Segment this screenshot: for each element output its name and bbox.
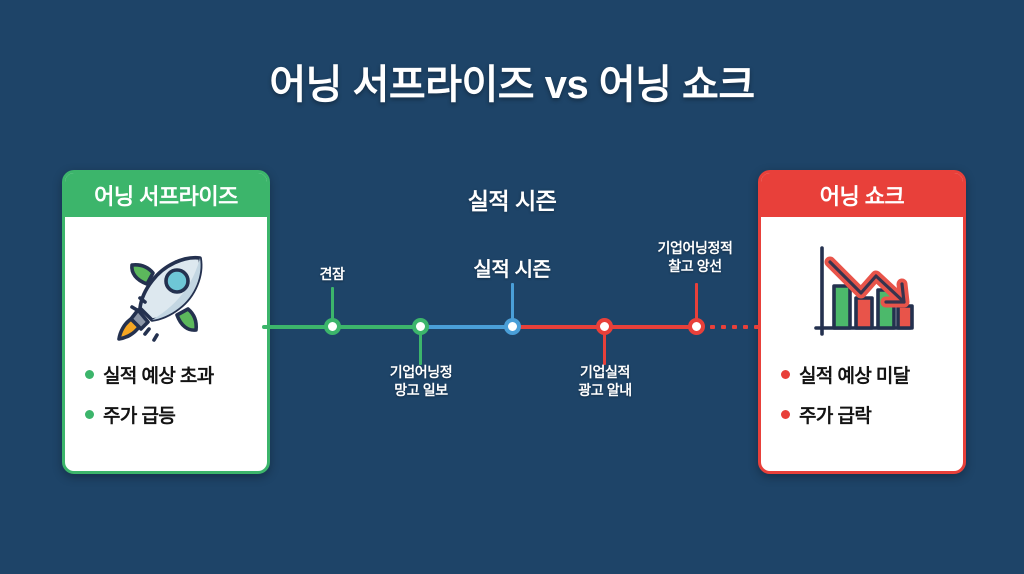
timeline-label-2: 기업어닝정 망고 일보 xyxy=(366,364,476,399)
list-item: 실적 예상 초과 xyxy=(85,361,267,388)
timeline-segment-green-2 xyxy=(332,325,424,329)
timeline-heading: 실적 시즌 xyxy=(262,182,762,216)
timeline-node-3[interactable] xyxy=(504,318,521,335)
timeline-node-1[interactable] xyxy=(324,318,341,335)
card-header-earnings-shock: 어닝 쇼크 xyxy=(761,173,963,217)
card-body-earnings-shock: 실적 예상 미달 주가 급락 xyxy=(761,217,963,471)
card-earnings-shock: 어닝 쇼크 xyxy=(758,170,966,474)
list-item: 실적 예상 미달 xyxy=(781,361,963,388)
card-earnings-surprise: 어닝 서프라이즈 xyxy=(62,170,270,474)
timeline-stem-2 xyxy=(419,333,422,365)
timeline-segment-blue xyxy=(420,325,516,329)
timeline-stem-3 xyxy=(511,283,514,320)
timeline-label-3: 실적 시즌 xyxy=(447,258,577,283)
bullet-dot-icon xyxy=(85,410,94,419)
bullet-dot-icon xyxy=(781,410,790,419)
timeline: 실적 시즌 견잠 기업어닝정 망고 일보 실적 시즌 기업실적 광고 알내 기업… xyxy=(262,170,762,420)
bullet-text: 주가 급등 xyxy=(103,401,175,428)
timeline-node-2[interactable] xyxy=(412,318,429,335)
rocket-icon xyxy=(114,233,218,351)
timeline-node-4[interactable] xyxy=(596,318,613,335)
timeline-stem-4 xyxy=(603,333,606,365)
timeline-label-5: 기업어닝정적 찰고 앙선 xyxy=(630,240,760,275)
bullet-text: 실적 예상 미달 xyxy=(799,361,910,388)
declining-bar-chart-icon xyxy=(806,233,918,351)
timeline-label-4: 기업실적 광고 알내 xyxy=(550,364,660,399)
bullet-text: 주가 급락 xyxy=(799,401,871,428)
bullet-text: 실적 예상 초과 xyxy=(103,361,214,388)
timeline-segment-red-2 xyxy=(604,325,694,329)
page-title: 어닝 서프라이즈 vs 어닝 쇼크 xyxy=(0,52,1024,110)
bullet-dot-icon xyxy=(85,370,94,379)
timeline-label-1: 견잠 xyxy=(282,266,382,284)
card-header-earnings-surprise: 어닝 서프라이즈 xyxy=(65,173,267,217)
timeline-stem-5 xyxy=(695,283,698,320)
list-item: 주가 급락 xyxy=(781,401,963,428)
timeline-segment-dotted xyxy=(696,325,764,329)
bullet-dot-icon xyxy=(781,370,790,379)
bullet-list-earnings-surprise: 실적 예상 초과 주가 급등 xyxy=(65,361,267,441)
list-item: 주가 급등 xyxy=(85,401,267,428)
timeline-segment-red-1 xyxy=(512,325,608,329)
timeline-stem-1 xyxy=(331,287,334,320)
bullet-list-earnings-shock: 실적 예상 미달 주가 급락 xyxy=(761,361,963,441)
timeline-node-5[interactable] xyxy=(688,318,705,335)
card-body-earnings-surprise: 실적 예상 초과 주가 급등 xyxy=(65,217,267,471)
